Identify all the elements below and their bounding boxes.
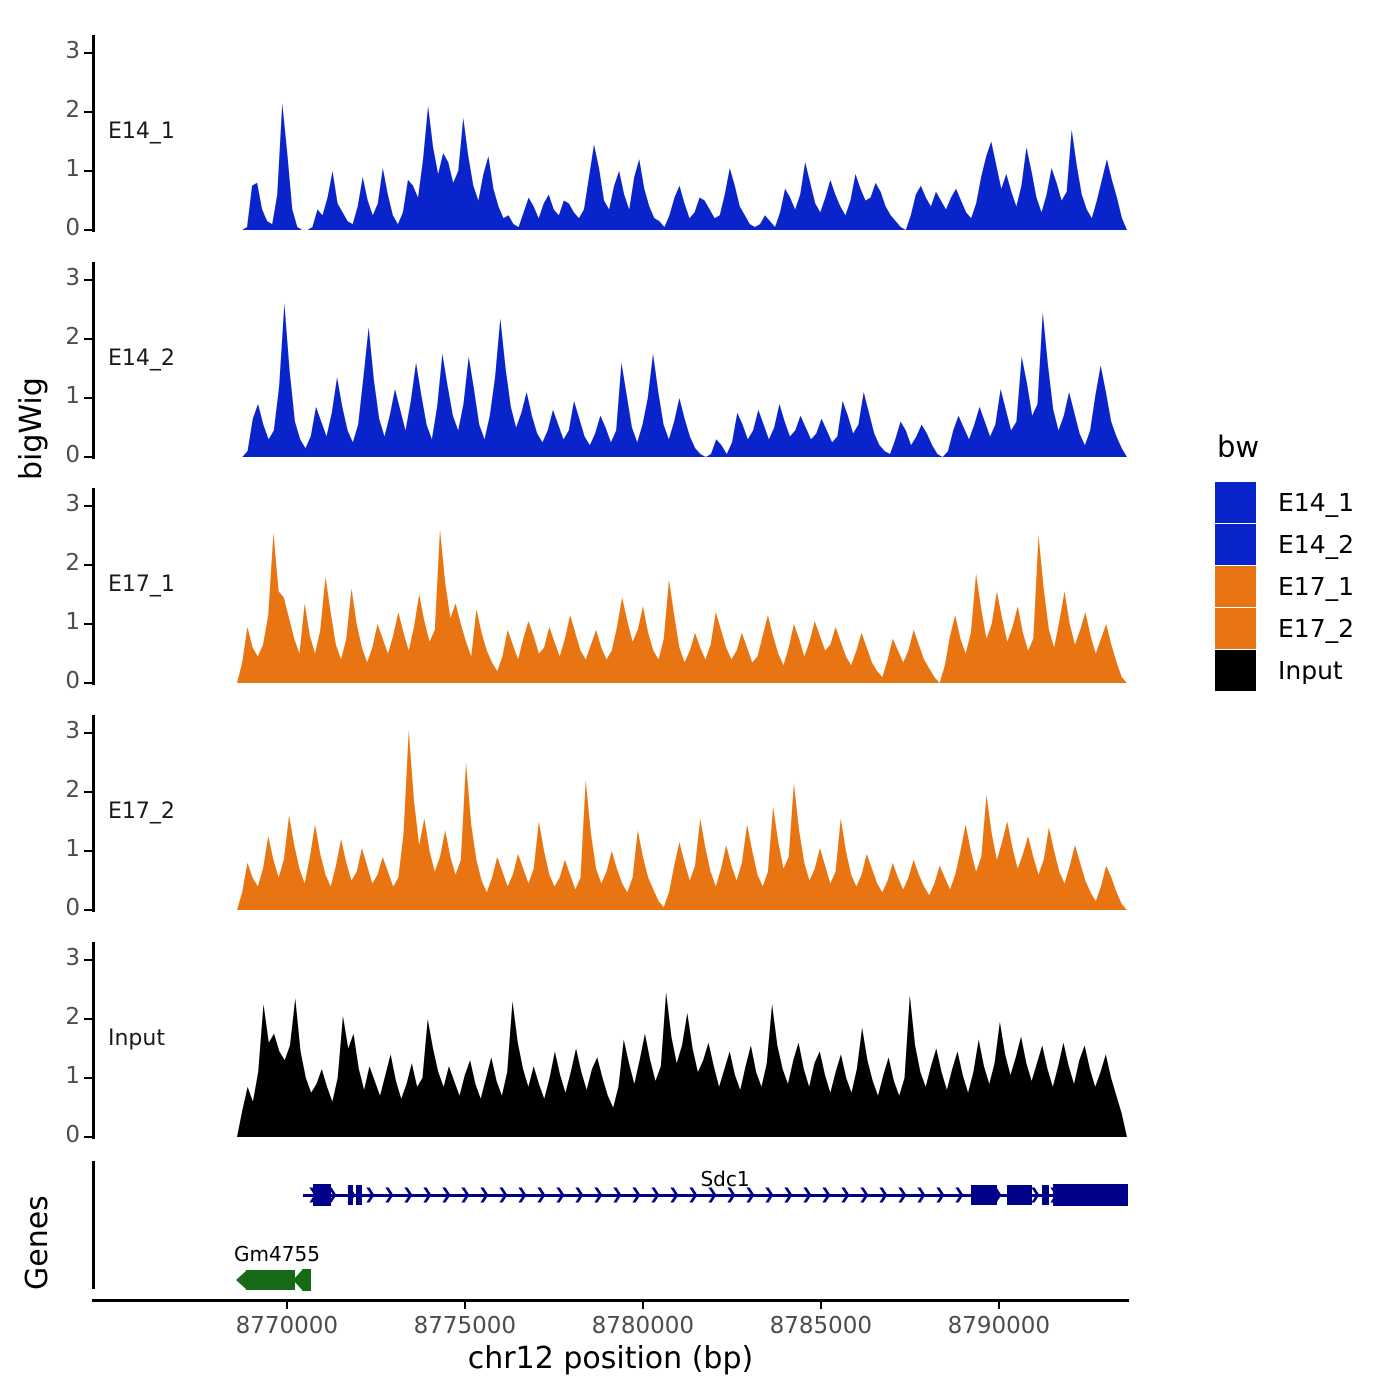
y-tick: [84, 623, 93, 625]
legend-swatch-input: [1215, 650, 1256, 691]
y-tick: [84, 170, 93, 172]
x-tick: [464, 1300, 466, 1309]
y-tick-label: 1: [40, 1065, 80, 1088]
signal-area-e14_1: [237, 35, 1127, 232]
x-axis-line: [92, 1299, 1129, 1302]
gene-label-sdc1: Sdc1: [625, 1167, 825, 1191]
strand-arrow-icon: ❯: [953, 1187, 966, 1202]
strand-arrow-icon: ❯: [839, 1187, 852, 1202]
y-tick: [84, 791, 93, 793]
strand-arrow-icon: ❯: [915, 1187, 928, 1202]
y-tick: [84, 111, 93, 113]
gene-exon-sdc1: [356, 1185, 362, 1205]
y-tick: [84, 397, 93, 399]
strand-arrow-icon: ❯: [611, 1187, 624, 1202]
y-tick-label: 2: [40, 326, 80, 349]
y-tick-label: 3: [40, 720, 80, 743]
y-tick-label: 2: [40, 552, 80, 575]
track-label-e14_1: E14_1: [108, 119, 175, 144]
strand-arrow-icon: ❯: [592, 1187, 605, 1202]
y-tick: [84, 682, 93, 684]
y-tick: [84, 229, 93, 231]
legend-item-e17_1[interactable]: E17_1: [1215, 565, 1354, 607]
x-tick: [642, 1300, 644, 1309]
x-tick-label: 8790000: [919, 1313, 1079, 1339]
x-tick: [998, 1300, 1000, 1309]
y-tick: [84, 338, 93, 340]
y-tick-label: 1: [40, 158, 80, 181]
strand-arrow-icon: ❯: [535, 1187, 548, 1202]
y-tick-label: 0: [40, 670, 80, 693]
y-tick: [84, 732, 93, 734]
legend-swatch-e17_1: [1215, 566, 1256, 607]
strand-arrow-icon: ❯: [573, 1187, 586, 1202]
legend-label-e17_2: E17_2: [1278, 614, 1354, 643]
legend-label-e14_2: E14_2: [1278, 530, 1354, 559]
y-tick: [84, 850, 93, 852]
y-tick: [84, 564, 93, 566]
y-tick: [84, 456, 93, 458]
gene-label-gm4755: Gm4755: [177, 1242, 377, 1266]
y-axis-line-e17_1: [92, 488, 95, 685]
y-tick-label: 1: [40, 385, 80, 408]
y-tick-label: 0: [40, 444, 80, 467]
y-tick: [84, 1136, 93, 1138]
strand-arrow-icon: ❯: [440, 1187, 453, 1202]
legend-swatch-e14_1: [1215, 482, 1256, 523]
strand-arrow-left-icon: [236, 1270, 247, 1290]
strand-arrow-icon: ❯: [364, 1187, 377, 1202]
y-tick-label: 3: [40, 40, 80, 63]
strand-arrow-icon: ❯: [877, 1187, 890, 1202]
y-tick-label: 1: [40, 838, 80, 861]
legend-swatch-e14_2: [1215, 524, 1256, 565]
x-axis-title: chr12 position (bp): [92, 1341, 1129, 1376]
genes-axis-line: [92, 1161, 95, 1289]
y-tick-label: 2: [40, 779, 80, 802]
signal-area-input: [237, 942, 1127, 1139]
strand-arrow-icon: ❯: [402, 1187, 415, 1202]
y-tick: [84, 279, 93, 281]
y-tick-label: 0: [40, 217, 80, 240]
strand-arrow-icon: ❯: [497, 1187, 510, 1202]
signal-area-e17_2: [237, 715, 1127, 912]
strand-arrow-icon: ❯: [478, 1187, 491, 1202]
y-tick-label: 3: [40, 947, 80, 970]
y-axis-line-input: [92, 942, 95, 1139]
gene-exon-sdc1: [1007, 1185, 1032, 1205]
gene-exon-sdc1: [348, 1185, 353, 1205]
y-tick-label: 3: [40, 267, 80, 290]
gene-exon-sdc1: [971, 1185, 997, 1205]
gene-exon-sdc1: [1042, 1185, 1049, 1205]
legend-item-e17_2[interactable]: E17_2: [1215, 607, 1354, 649]
x-tick: [820, 1300, 822, 1309]
y-tick: [84, 909, 93, 911]
y-tick-label: 0: [40, 1124, 80, 1147]
y-tick-label: 3: [40, 493, 80, 516]
legend-label-input: Input: [1278, 656, 1343, 685]
legend: bw E14_1E14_2E17_1E17_2Input: [1215, 430, 1354, 691]
track-label-e17_2: E17_2: [108, 799, 175, 824]
legend-swatch-e17_2: [1215, 608, 1256, 649]
strand-arrow-icon: ❯: [858, 1187, 871, 1202]
y-axis-line-e17_2: [92, 715, 95, 912]
gene-exon-sdc1: [313, 1184, 331, 1206]
strand-arrow-icon: ❯: [896, 1187, 909, 1202]
x-tick: [286, 1300, 288, 1309]
strand-arrow-icon: ❯: [421, 1187, 434, 1202]
legend-item-e14_2[interactable]: E14_2: [1215, 523, 1354, 565]
x-tick-label: 8780000: [563, 1313, 723, 1339]
signal-area-e17_1: [237, 488, 1127, 685]
y-tick-label: 1: [40, 611, 80, 634]
strand-arrow-icon: ❯: [459, 1187, 472, 1202]
y-axis-line-e14_2: [92, 262, 95, 459]
x-tick-label: 8770000: [207, 1313, 367, 1339]
y-tick-label: 2: [40, 1006, 80, 1029]
y-axis-line-e14_1: [92, 35, 95, 232]
signal-area-e14_2: [237, 262, 1127, 459]
strand-arrow-icon: ❯: [383, 1187, 396, 1202]
legend-title: bw: [1217, 430, 1354, 464]
y-tick: [84, 1077, 93, 1079]
strand-arrow-icon: ❯: [934, 1187, 947, 1202]
track-label-e14_2: E14_2: [108, 346, 175, 371]
gene-exon-gm4755: [302, 1269, 311, 1291]
legend-items: E14_1E14_2E17_1E17_2Input: [1215, 481, 1354, 691]
track-label-e17_1: E17_1: [108, 572, 175, 597]
gene-exon-sdc1: [1053, 1184, 1128, 1206]
strand-arrow-icon: ❯: [554, 1187, 567, 1202]
gene-exon-gm4755: [246, 1270, 295, 1290]
legend-item-e14_1[interactable]: E14_1: [1215, 481, 1354, 523]
legend-label-e14_1: E14_1: [1278, 488, 1354, 517]
x-tick-label: 8785000: [741, 1313, 901, 1339]
y-tick: [84, 1018, 93, 1020]
y-axis-title-genes: Genes: [20, 1195, 55, 1290]
y-tick: [84, 505, 93, 507]
legend-item-input[interactable]: Input: [1215, 649, 1354, 691]
y-tick: [84, 52, 93, 54]
x-tick-label: 8775000: [385, 1313, 545, 1339]
y-tick-label: 2: [40, 99, 80, 122]
legend-label-e17_1: E17_1: [1278, 572, 1354, 601]
strand-arrow-icon: ❯: [516, 1187, 529, 1202]
y-tick-label: 0: [40, 897, 80, 920]
y-tick: [84, 959, 93, 961]
track-label-input: Input: [108, 1026, 165, 1051]
